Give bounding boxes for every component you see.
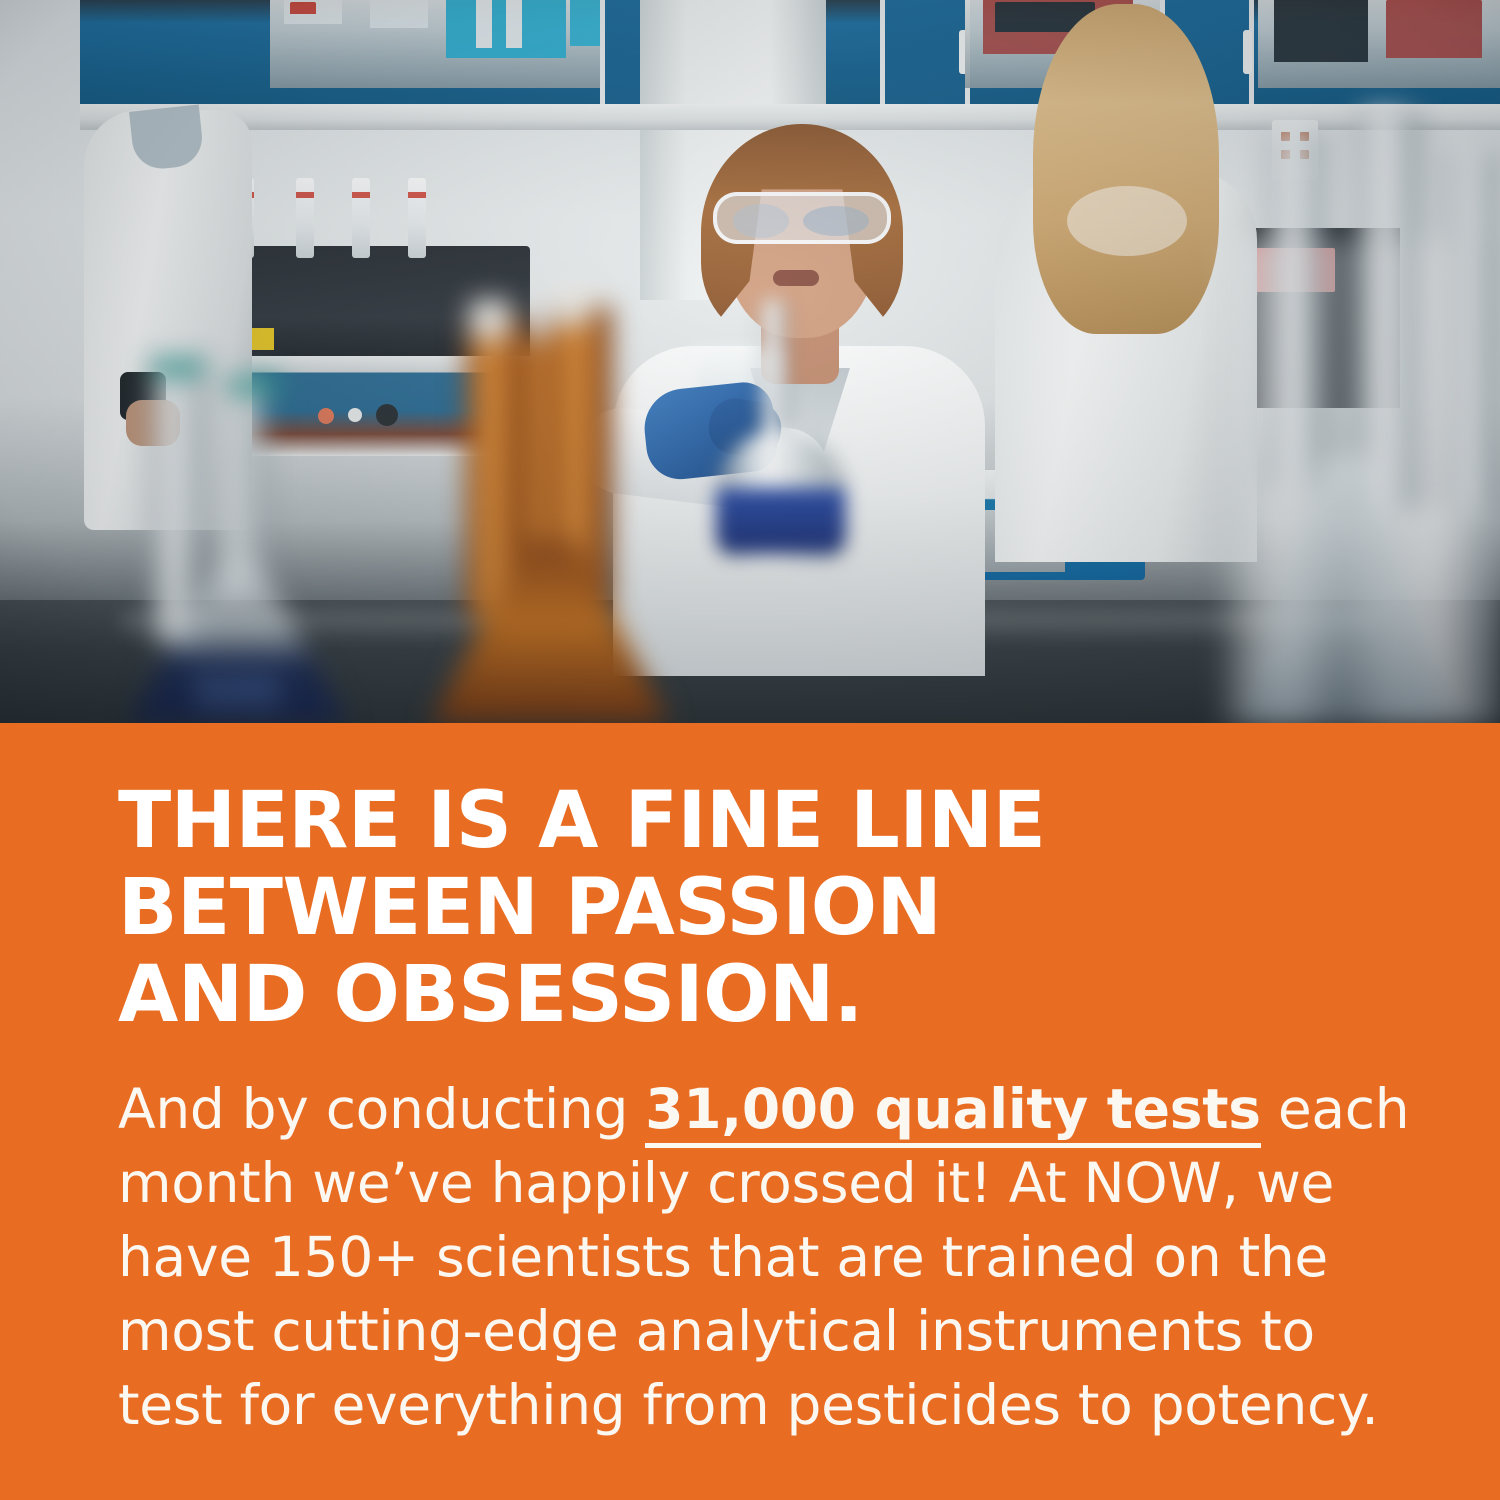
graduated-cylinder [1446,150,1500,510]
foreground-glassware: 500 [0,0,1500,723]
body-text-after-stat: each [1261,1077,1410,1141]
column-cap [552,286,592,326]
body-line-5: test for everything from pesticides to p… [118,1368,1408,1442]
stat-quality-tests: 31,000 quality tests [645,1077,1260,1148]
body-copy: And by conducting 31,000 quality tests e… [118,1072,1408,1442]
headline-line-3: AND OBSESSION. [118,952,1418,1039]
body-line-1: And by conducting 31,000 quality tests e… [118,1072,1408,1146]
graduated-cylinder [1356,110,1422,510]
headline-line-2: BETWEEN PASSION [118,865,1418,952]
flask-volume-label: 500 [174,664,304,718]
page-title: THERE IS A FINE LINE BETWEEN PASSION AND… [118,778,1418,1039]
column-cap [470,300,510,340]
body-line-4: most cutting-edge analytical instruments… [118,1294,1408,1368]
cylinder-cap [230,378,282,394]
blue-solution [716,488,846,554]
lab-photo: 500 [0,0,1500,723]
body-text-before-stat: And by conducting [118,1077,645,1141]
headline-line-1: THERE IS A FINE LINE [118,778,1418,865]
advertisement-card: 500 [0,0,1500,1500]
cylinder-cap [152,360,204,376]
graduated-cylinder [1268,130,1326,490]
body-line-3: have 150+ scientists that are trained on… [118,1220,1408,1294]
body-line-2: month we’ve happily crossed it! At NOW, … [118,1146,1408,1220]
